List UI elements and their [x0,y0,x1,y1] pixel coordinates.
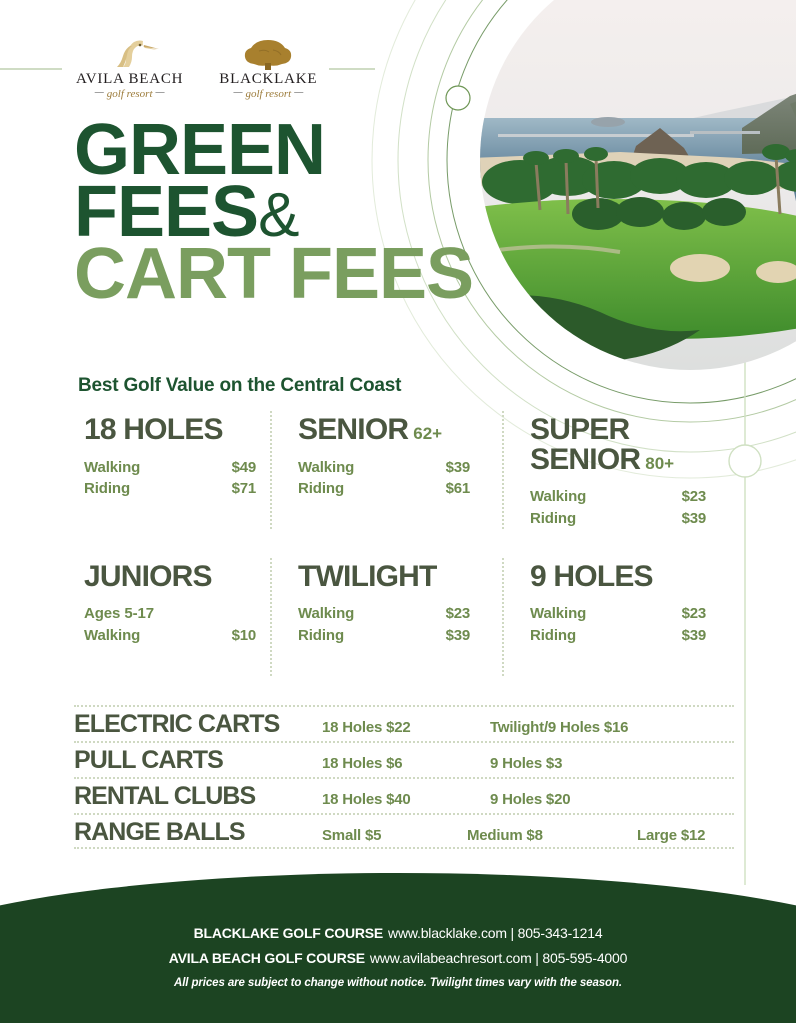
fee-row: Walking $23 [530,486,706,508]
fee-label: Riding [298,478,344,500]
tier-title: TWILIGHT [298,562,502,593]
fee-value: $49 [232,457,256,479]
fee-row: Walking $49 [84,457,256,479]
pricing-tier-grid: 18 HOLES Walking $49 Riding $71 SENIOR62… [74,415,734,647]
rental-label: PULL CARTS [74,746,322,775]
footer-course-name: AVILA BEACH GOLF COURSE [169,950,365,966]
arc-node-icon [446,86,470,110]
tier-title-line-1: SUPER [530,415,734,445]
fee-label: Riding [530,625,576,647]
fee-label: Walking [530,603,586,625]
tier-fee-list: Walking $23 Riding $39 [530,486,734,530]
tier-title: JUNIORS [84,562,270,593]
rental-label: ELECTRIC CARTS [74,710,322,739]
tier-row-1: 18 HOLES Walking $49 Riding $71 SENIOR62… [74,415,734,530]
tier-senior: SENIOR62+ Walking $39 Riding $61 [270,415,502,530]
rental-option: 18 Holes $22 [322,719,490,736]
tier-title-line-2: SENIOR [530,443,640,476]
rental-row-electric-carts: ELECTRIC CARTS 18 Holes $22 Twilight/9 H… [74,705,734,741]
fee-value: $39 [682,625,706,647]
fee-label: Walking [84,625,140,647]
tier-row-2: JUNIORS Ages 5-17 Walking $10 TWILIGHT [74,562,734,647]
tier-fee-list: Walking $23 Riding $39 [298,603,502,647]
tier-super-senior: SUPER SENIOR80+ Walking $23 Riding $39 [502,415,734,530]
footer-course-name: BLACKLAKE GOLF COURSE [194,925,383,941]
fee-row: Riding $61 [298,478,470,500]
fee-row: Walking $23 [298,603,470,625]
fee-row: Ages 5-17 [84,603,256,625]
footer-course-contact[interactable]: www.avilabeachresort.com | 805-595-4000 [370,950,627,966]
tier-18-holes: 18 HOLES Walking $49 Riding $71 [74,415,270,530]
rental-row-pull-carts: PULL CARTS 18 Holes $6 9 Holes $3 [74,741,734,777]
tier-9-holes: 9 HOLES Walking $23 Riding $39 [502,562,734,647]
green-fees-flyer: AVILA BEACH golf resort BLACKLAKE golf r… [0,0,796,1023]
logo-avila-beach: AVILA BEACH golf resort [76,37,183,100]
logo-rule-left [0,68,62,70]
rental-row-rental-clubs: RENTAL CLUBS 18 Holes $40 9 Holes $20 [74,777,734,813]
fee-value: $39 [446,625,470,647]
footer-contact-blacklake: BLACKLAKE GOLF COURSEwww.blacklake.com |… [0,921,796,946]
tier-title: SUPER SENIOR80+ [530,415,734,475]
rental-option: Twilight/9 Holes $16 [490,719,660,736]
tier-title: SENIOR62+ [298,415,502,446]
rental-row-range-balls: RANGE BALLS Small $5 Medium $8 Large $12 [74,813,734,849]
tier-fee-list: Walking $39 Riding $61 [298,457,502,501]
fee-label: Walking [298,603,354,625]
footer-disclaimer: All prices are subject to change without… [0,977,796,989]
fee-row: Walking $10 [84,625,256,647]
fee-label: Walking [530,486,586,508]
rental-option: 18 Holes $40 [322,791,490,808]
tier-age-qualifier: 80+ [645,454,674,473]
fee-label: Walking [84,457,140,479]
fee-value: $39 [682,508,706,530]
logo-name-blacklake: BLACKLAKE [219,72,317,87]
fee-row: Walking $23 [530,603,706,625]
fee-value: $39 [446,457,470,479]
footer-content: BLACKLAKE GOLF COURSEwww.blacklake.com |… [0,873,796,989]
fee-row: Riding $39 [298,625,470,647]
oak-tree-icon [239,37,297,71]
fee-value: $71 [232,478,256,500]
rental-option: 9 Holes $20 [490,791,660,808]
tier-juniors: JUNIORS Ages 5-17 Walking $10 [74,562,270,647]
fee-label: Riding [530,508,576,530]
tier-title: 18 HOLES [84,415,270,446]
rental-option: 18 Holes $6 [322,755,490,772]
tier-age-qualifier: 62+ [413,424,442,443]
headline-line-3: CART FEES [74,244,544,306]
fee-row: Riding $39 [530,625,706,647]
rentals-table: ELECTRIC CARTS 18 Holes $22 Twilight/9 H… [74,705,734,849]
footer-course-contact[interactable]: www.blacklake.com | 805-343-1214 [388,925,602,941]
fee-value: $61 [446,478,470,500]
fee-value: $10 [232,625,256,647]
logo-rule-right [329,68,375,70]
fee-value: $23 [446,603,470,625]
rental-option: Large $12 [637,827,705,844]
fee-label: Riding [84,478,130,500]
logo-tagline-blacklake: golf resort [219,88,317,100]
tier-fee-list: Ages 5-17 Walking $10 [84,603,270,647]
fee-row: Riding $71 [84,478,256,500]
fee-label: Walking [298,457,354,479]
logo-tagline-avila: golf resort [76,88,183,100]
rental-label: RANGE BALLS [74,818,322,847]
footer: BLACKLAKE GOLF COURSEwww.blacklake.com |… [0,873,796,1023]
rental-option: Medium $8 [467,827,637,844]
fee-row: Walking $39 [298,457,470,479]
tier-twilight: TWILIGHT Walking $23 Riding $39 [270,562,502,647]
headline-block: GREEN FEES& CART FEES [74,120,544,306]
logo-name-avila: AVILA BEACH [76,72,183,87]
tier-fee-list: Walking $49 Riding $71 [84,457,270,501]
footer-contact-avila: AVILA BEACH GOLF COURSEwww.avilabeachres… [0,946,796,971]
fee-value: $23 [682,486,706,508]
headline-subtitle: Best Golf Value on the Central Coast [78,375,401,397]
rental-option: Small $5 [322,827,467,844]
logo-blacklake: BLACKLAKE golf resort [219,37,317,100]
fee-value: $23 [682,603,706,625]
fee-label: Riding [298,625,344,647]
tier-title-text: SENIOR [298,413,408,446]
rental-label: RENTAL CLUBS [74,782,322,811]
arc-node-icon [567,285,593,311]
rental-option: 9 Holes $3 [490,755,660,772]
logo-band: AVILA BEACH golf resort BLACKLAKE golf r… [0,38,440,100]
tier-title: 9 HOLES [530,562,734,593]
fee-row: Riding $39 [530,508,706,530]
tier-fee-list: Walking $23 Riding $39 [530,603,734,647]
heron-icon [99,37,161,71]
fee-label: Ages 5-17 [84,603,256,625]
